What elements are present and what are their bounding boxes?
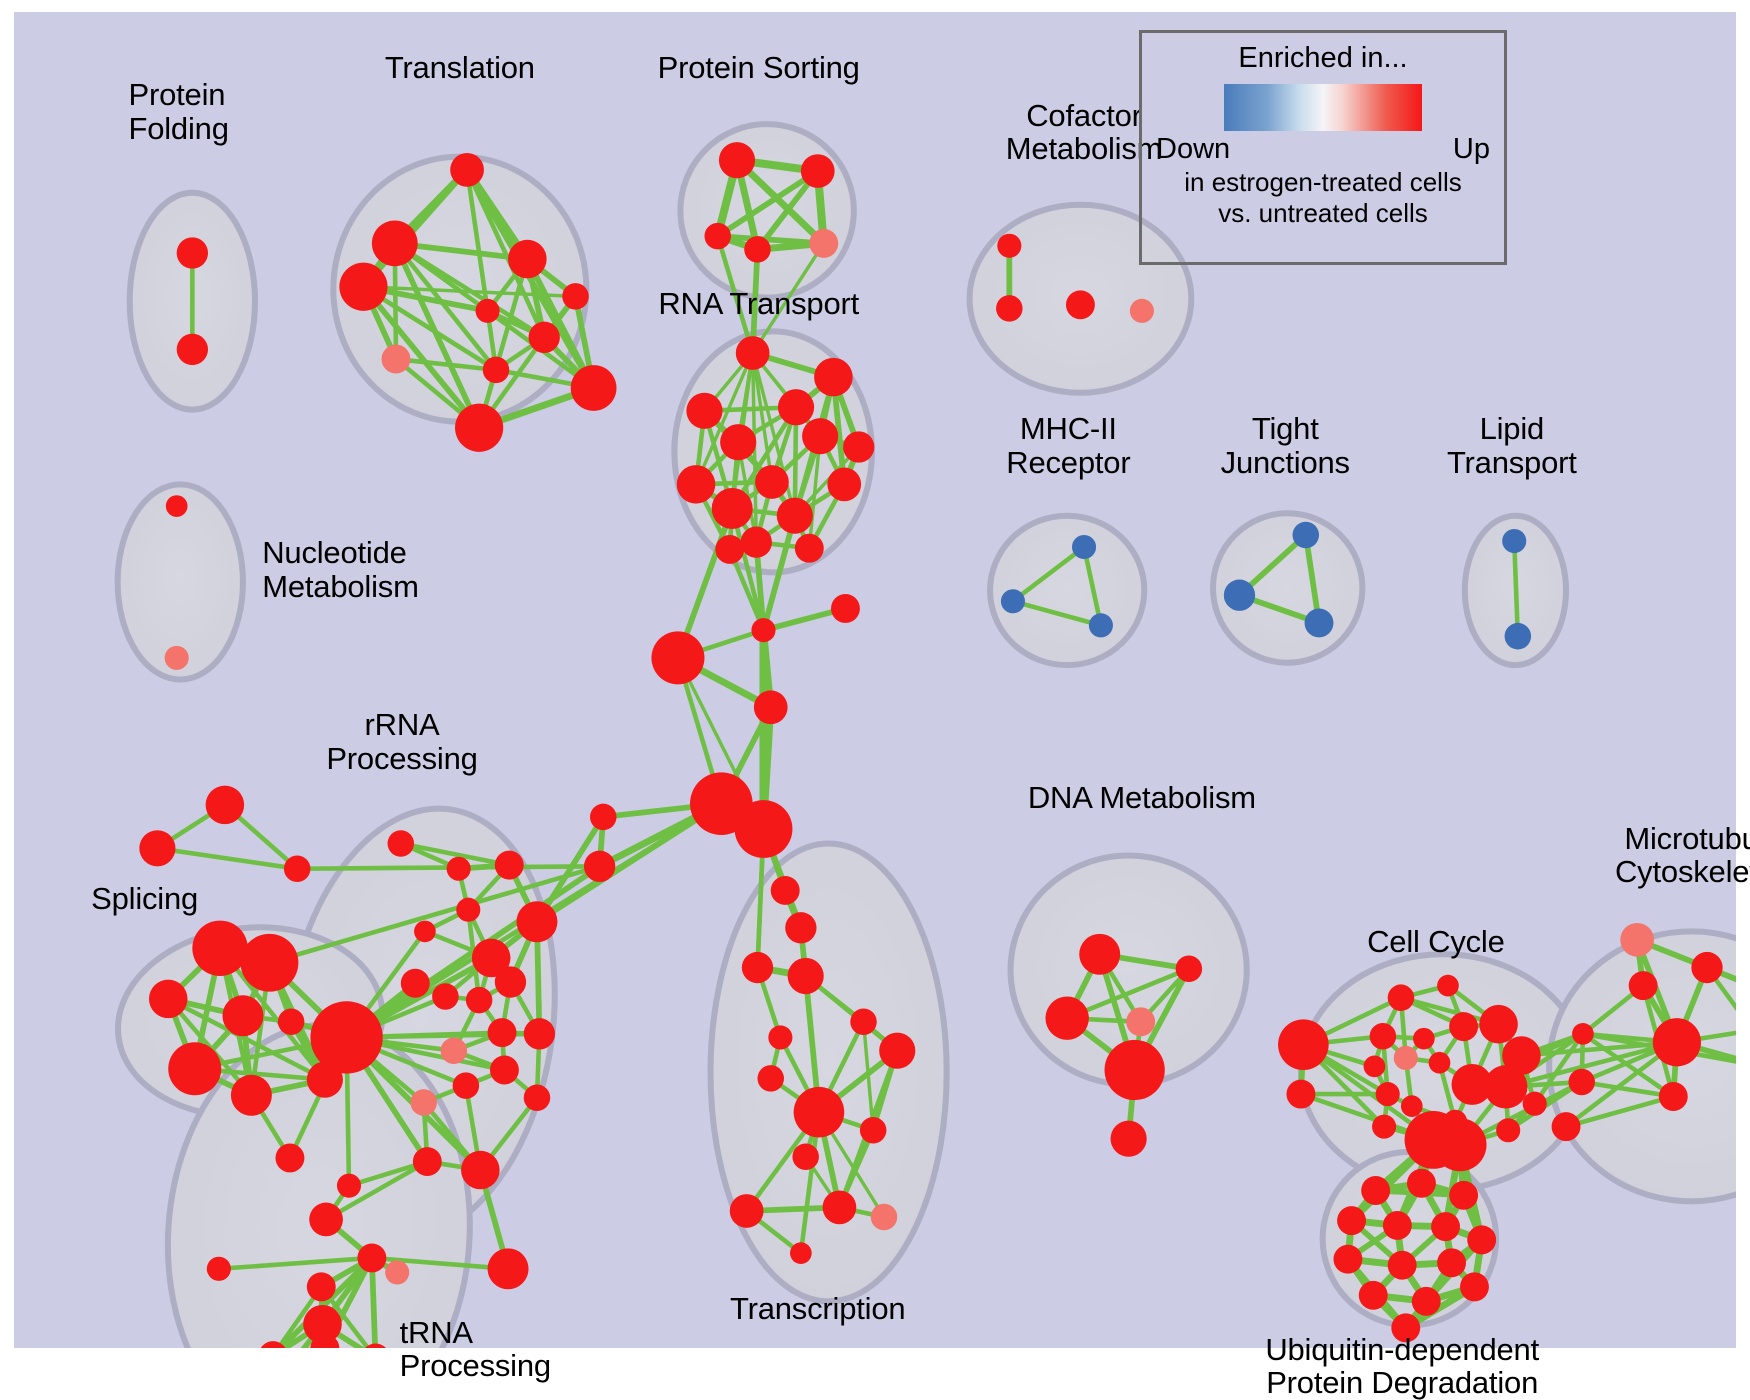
network-node[interactable] — [1286, 1080, 1315, 1109]
network-node[interactable] — [1001, 589, 1025, 613]
network-node[interactable] — [584, 851, 615, 882]
cluster-label-line: Processing — [326, 742, 477, 775]
network-node[interactable] — [1413, 1028, 1435, 1050]
legend-subtitle-line2: vs. untreated cells — [1142, 199, 1504, 228]
network-node[interactable] — [1372, 1115, 1396, 1139]
network-node[interactable] — [231, 1075, 272, 1116]
network-node[interactable] — [1337, 1206, 1366, 1235]
network-node[interactable] — [177, 237, 208, 268]
network-node[interactable] — [730, 1194, 764, 1228]
network-node[interactable] — [488, 1248, 529, 1289]
network-node[interactable] — [388, 830, 415, 857]
network-node[interactable] — [177, 334, 208, 365]
cluster-label-line: Tight — [1221, 412, 1350, 445]
network-node[interactable] — [997, 234, 1021, 258]
network-node[interactable] — [453, 1072, 480, 1099]
network-node[interactable] — [1629, 971, 1658, 1000]
network-node[interactable] — [461, 1151, 500, 1190]
network-node[interactable] — [508, 240, 547, 279]
cluster-label-rna-transport: RNA Transport — [658, 287, 859, 320]
network-node[interactable] — [401, 969, 430, 998]
network-node[interactable] — [447, 857, 471, 881]
legend-color-gradient — [1224, 84, 1422, 131]
network-node[interactable] — [996, 295, 1023, 322]
cluster-label-rrna-processing: rRNAProcessing — [326, 708, 477, 775]
network-node[interactable] — [1659, 1082, 1688, 1111]
cluster-label-line: Microtubule — [1615, 822, 1750, 855]
network-node[interactable] — [677, 465, 716, 504]
cluster-label-dna-metabolism: DNA Metabolism — [1028, 781, 1256, 814]
network-node[interactable] — [795, 534, 824, 563]
cluster-label-cell-cycle: Cell Cycle — [1367, 925, 1505, 958]
network-node[interactable] — [414, 921, 436, 943]
network-node[interactable] — [831, 594, 860, 623]
network-node[interactable] — [357, 1244, 386, 1273]
network-node[interactable] — [1449, 1012, 1478, 1041]
cluster-label-line: DNA Metabolism — [1028, 781, 1256, 814]
network-node[interactable] — [1111, 1121, 1147, 1157]
cluster-label-translation: Translation — [385, 51, 535, 84]
network-node[interactable] — [516, 901, 557, 942]
network-node[interactable] — [755, 465, 789, 499]
cluster-label-line: tRNA — [400, 1316, 551, 1349]
network-node[interactable] — [1089, 613, 1113, 637]
cluster-label-line: Metabolism — [262, 570, 419, 603]
cluster-label-line: rRNA — [326, 708, 477, 741]
legend-endpoints: Down Up — [1142, 131, 1504, 166]
network-node[interactable] — [850, 1009, 877, 1036]
network-node[interactable] — [275, 1143, 304, 1172]
cluster-label-line: Translation — [385, 51, 535, 84]
network-node[interactable] — [1079, 934, 1120, 975]
network-node[interactable] — [1620, 923, 1654, 957]
network-node[interactable] — [771, 876, 800, 905]
network-node[interactable] — [1305, 608, 1334, 637]
network-node[interactable] — [1333, 1245, 1362, 1274]
network-node[interactable] — [441, 1037, 468, 1064]
network-node[interactable] — [1045, 996, 1088, 1039]
network-node[interactable] — [736, 336, 770, 370]
network-node[interactable] — [754, 690, 788, 724]
network-node[interactable] — [1691, 952, 1722, 983]
network-node[interactable] — [744, 236, 771, 263]
cluster-label-line: Protein Sorting — [658, 51, 860, 84]
cluster-label-trna-processing: tRNAProcessing — [400, 1316, 551, 1383]
cluster-label-line: MHC-II — [1006, 412, 1130, 445]
cluster-label-tight-junctions: TightJunctions — [1221, 412, 1350, 479]
network-node[interactable] — [1401, 1095, 1423, 1117]
network-node[interactable] — [524, 1084, 551, 1111]
network-node[interactable] — [166, 495, 188, 517]
network-node[interactable] — [168, 1042, 221, 1095]
cluster-label-line: Lipid — [1447, 412, 1577, 445]
network-node[interactable] — [1066, 290, 1095, 319]
network-node[interactable] — [686, 393, 722, 429]
cluster-label-line: Junctions — [1221, 446, 1350, 479]
network-node[interactable] — [742, 952, 773, 983]
network-node[interactable] — [309, 1203, 343, 1237]
network-node[interactable] — [206, 786, 245, 825]
network-node[interactable] — [777, 498, 813, 534]
cluster-label-line: Processing — [400, 1349, 551, 1382]
network-node[interactable] — [450, 153, 484, 187]
network-node[interactable] — [192, 921, 247, 976]
network-node[interactable] — [339, 263, 387, 311]
legend-title: Enriched in... — [1142, 42, 1504, 75]
cluster-label-protein-sorting: Protein Sorting — [658, 51, 860, 84]
network-node[interactable] — [792, 1143, 819, 1170]
network-node[interactable] — [1388, 1251, 1417, 1280]
network-node[interactable] — [741, 527, 772, 558]
network-node[interactable] — [1433, 1118, 1486, 1171]
network-node[interactable] — [1072, 535, 1096, 559]
network-node[interactable] — [1467, 1225, 1496, 1254]
network-node[interactable] — [590, 804, 617, 831]
network-node[interactable] — [149, 980, 188, 1019]
network-node[interactable] — [1502, 529, 1526, 553]
cluster-label-ubiquitin-protein-degradation: Ubiquitin-dependentProtein Degradation — [1265, 1333, 1539, 1400]
network-node[interactable] — [307, 1272, 336, 1301]
network-node[interactable] — [1437, 1248, 1466, 1277]
network-node[interactable] — [1176, 956, 1203, 983]
network-node[interactable] — [704, 223, 731, 250]
cluster-label-lipid-transport: LipidTransport — [1447, 412, 1577, 479]
legend-up-label: Up — [1453, 133, 1490, 166]
network-edge — [537, 804, 721, 922]
network-node[interactable] — [1484, 1065, 1527, 1108]
network-node[interactable] — [466, 987, 493, 1014]
cluster-label-line: Nucleotide — [262, 536, 419, 569]
network-node[interactable] — [495, 851, 524, 880]
network-node[interactable] — [1449, 1181, 1478, 1210]
network-node[interactable] — [802, 418, 838, 454]
network-node[interactable] — [827, 467, 861, 501]
network-node[interactable] — [382, 345, 411, 374]
network-node[interactable] — [1224, 580, 1255, 611]
network-node[interactable] — [651, 631, 704, 684]
network-node[interactable] — [1105, 1040, 1165, 1100]
cluster-label-line: RNA Transport — [658, 287, 859, 320]
network-node[interactable] — [410, 1089, 437, 1116]
network-node[interactable] — [1126, 1007, 1155, 1036]
network-node[interactable] — [1293, 522, 1320, 549]
network-node[interactable] — [1376, 1082, 1400, 1106]
network-node[interactable] — [843, 431, 874, 462]
network-node[interactable] — [571, 365, 617, 411]
network-node[interactable] — [757, 1065, 784, 1092]
cluster-label-splicing: Splicing — [91, 882, 198, 915]
network-plot-area: ProteinFoldingTranslationProtein Sorting… — [14, 12, 1736, 1348]
network-node[interactable] — [278, 1009, 305, 1036]
legend-box: Enriched in... Down Up in estrogen-treat… — [1139, 30, 1507, 265]
network-node[interactable] — [432, 983, 459, 1010]
network-node[interactable] — [871, 1204, 898, 1231]
network-node[interactable] — [1130, 299, 1154, 323]
network-node[interactable] — [1429, 1052, 1451, 1074]
network-node[interactable] — [476, 299, 500, 323]
network-node[interactable] — [715, 535, 744, 564]
cluster-label-transcription: Transcription — [730, 1292, 905, 1325]
network-node[interactable] — [165, 646, 189, 670]
network-node[interactable] — [785, 912, 816, 943]
network-node[interactable] — [1568, 1069, 1595, 1096]
network-node[interactable] — [712, 488, 753, 529]
cluster-label-line: Transport — [1447, 446, 1577, 479]
network-node[interactable] — [1572, 1023, 1594, 1045]
network-node[interactable] — [751, 618, 775, 642]
network-node[interactable] — [488, 1018, 517, 1047]
network-node[interactable] — [801, 154, 835, 188]
cluster-label-line: Protein Degradation — [1265, 1366, 1539, 1399]
network-node[interactable] — [719, 142, 755, 178]
network-node[interactable] — [768, 1025, 792, 1049]
network-node[interactable] — [207, 1257, 231, 1281]
network-node[interactable] — [1460, 1272, 1489, 1301]
network-node[interactable] — [735, 800, 793, 858]
network-node[interactable] — [455, 404, 503, 452]
network-node[interactable] — [483, 357, 510, 384]
network-node[interactable] — [241, 934, 299, 992]
cluster-label-microtubule-cytoskeleton: MicrotubuleCytoskeleton — [1615, 822, 1750, 889]
network-node[interactable] — [790, 1242, 812, 1264]
network-node[interactable] — [814, 358, 853, 397]
cluster-label-line: Protein — [128, 78, 228, 111]
network-node[interactable] — [385, 1260, 409, 1284]
network-node[interactable] — [1505, 623, 1532, 650]
network-node[interactable] — [809, 229, 838, 258]
network-node[interactable] — [413, 1147, 442, 1176]
legend-subtitle-line1: in estrogen-treated cells — [1142, 168, 1504, 197]
network-node[interactable] — [1278, 1019, 1329, 1070]
network-node[interactable] — [337, 1174, 361, 1198]
network-node[interactable] — [794, 1087, 845, 1138]
network-node[interactable] — [222, 995, 263, 1036]
network-node[interactable] — [1412, 1287, 1441, 1316]
network-node[interactable] — [529, 322, 560, 353]
network-node[interactable] — [1370, 1023, 1397, 1050]
network-node[interactable] — [1407, 1169, 1436, 1198]
network-node[interactable] — [372, 220, 418, 266]
network-node[interactable] — [1431, 1212, 1460, 1241]
network-node[interactable] — [1388, 984, 1415, 1011]
network-node[interactable] — [1552, 1112, 1581, 1141]
network-node[interactable] — [1361, 1176, 1390, 1205]
network-node[interactable] — [456, 898, 480, 922]
network-node[interactable] — [284, 856, 311, 883]
cluster-label-protein-folding: ProteinFolding — [128, 78, 228, 145]
cluster-label-mhc-ii-receptor: MHC-IIReceptor — [1006, 412, 1130, 479]
cluster-label-line: Ubiquitin-dependent — [1265, 1333, 1539, 1366]
cluster-label-nucleotide-metabolism: NucleotideMetabolism — [262, 536, 419, 603]
network-node[interactable] — [823, 1190, 857, 1224]
figure-canvas: ProteinFoldingTranslationProtein Sorting… — [0, 0, 1750, 1360]
cluster-label-line: Splicing — [91, 882, 198, 915]
network-node[interactable] — [778, 389, 814, 425]
network-node[interactable] — [310, 1001, 382, 1073]
network-node[interactable] — [1496, 1118, 1520, 1142]
network-node[interactable] — [788, 958, 824, 994]
network-node[interactable] — [1394, 1046, 1418, 1070]
network-node[interactable] — [1364, 1056, 1386, 1078]
cluster-label-line: Cytoskeleton — [1615, 855, 1750, 888]
network-node[interactable] — [1359, 1281, 1388, 1310]
cluster-label-line: Folding — [128, 112, 228, 145]
network-node[interactable] — [495, 966, 526, 997]
network-node[interactable] — [1383, 1211, 1412, 1240]
cluster-label-line: Cell Cycle — [1367, 925, 1505, 958]
network-node[interactable] — [860, 1117, 887, 1144]
cluster-label-line: Receptor — [1006, 446, 1130, 479]
network-node[interactable] — [879, 1033, 915, 1069]
network-node[interactable] — [1523, 1092, 1547, 1116]
network-node[interactable] — [562, 283, 589, 310]
network-node[interactable] — [490, 1056, 519, 1085]
network-node[interactable] — [524, 1018, 555, 1049]
network-node[interactable] — [139, 830, 175, 866]
cluster-ellipse-protein-sorting — [680, 124, 854, 298]
network-node[interactable] — [1479, 1005, 1518, 1044]
network-node[interactable] — [1437, 975, 1459, 997]
legend-down-label: Down — [1156, 133, 1230, 166]
cluster-label-line: Transcription — [730, 1292, 905, 1325]
cluster-ellipse-transcription — [710, 843, 946, 1301]
network-node[interactable] — [720, 424, 756, 460]
network-node[interactable] — [1653, 1018, 1701, 1066]
